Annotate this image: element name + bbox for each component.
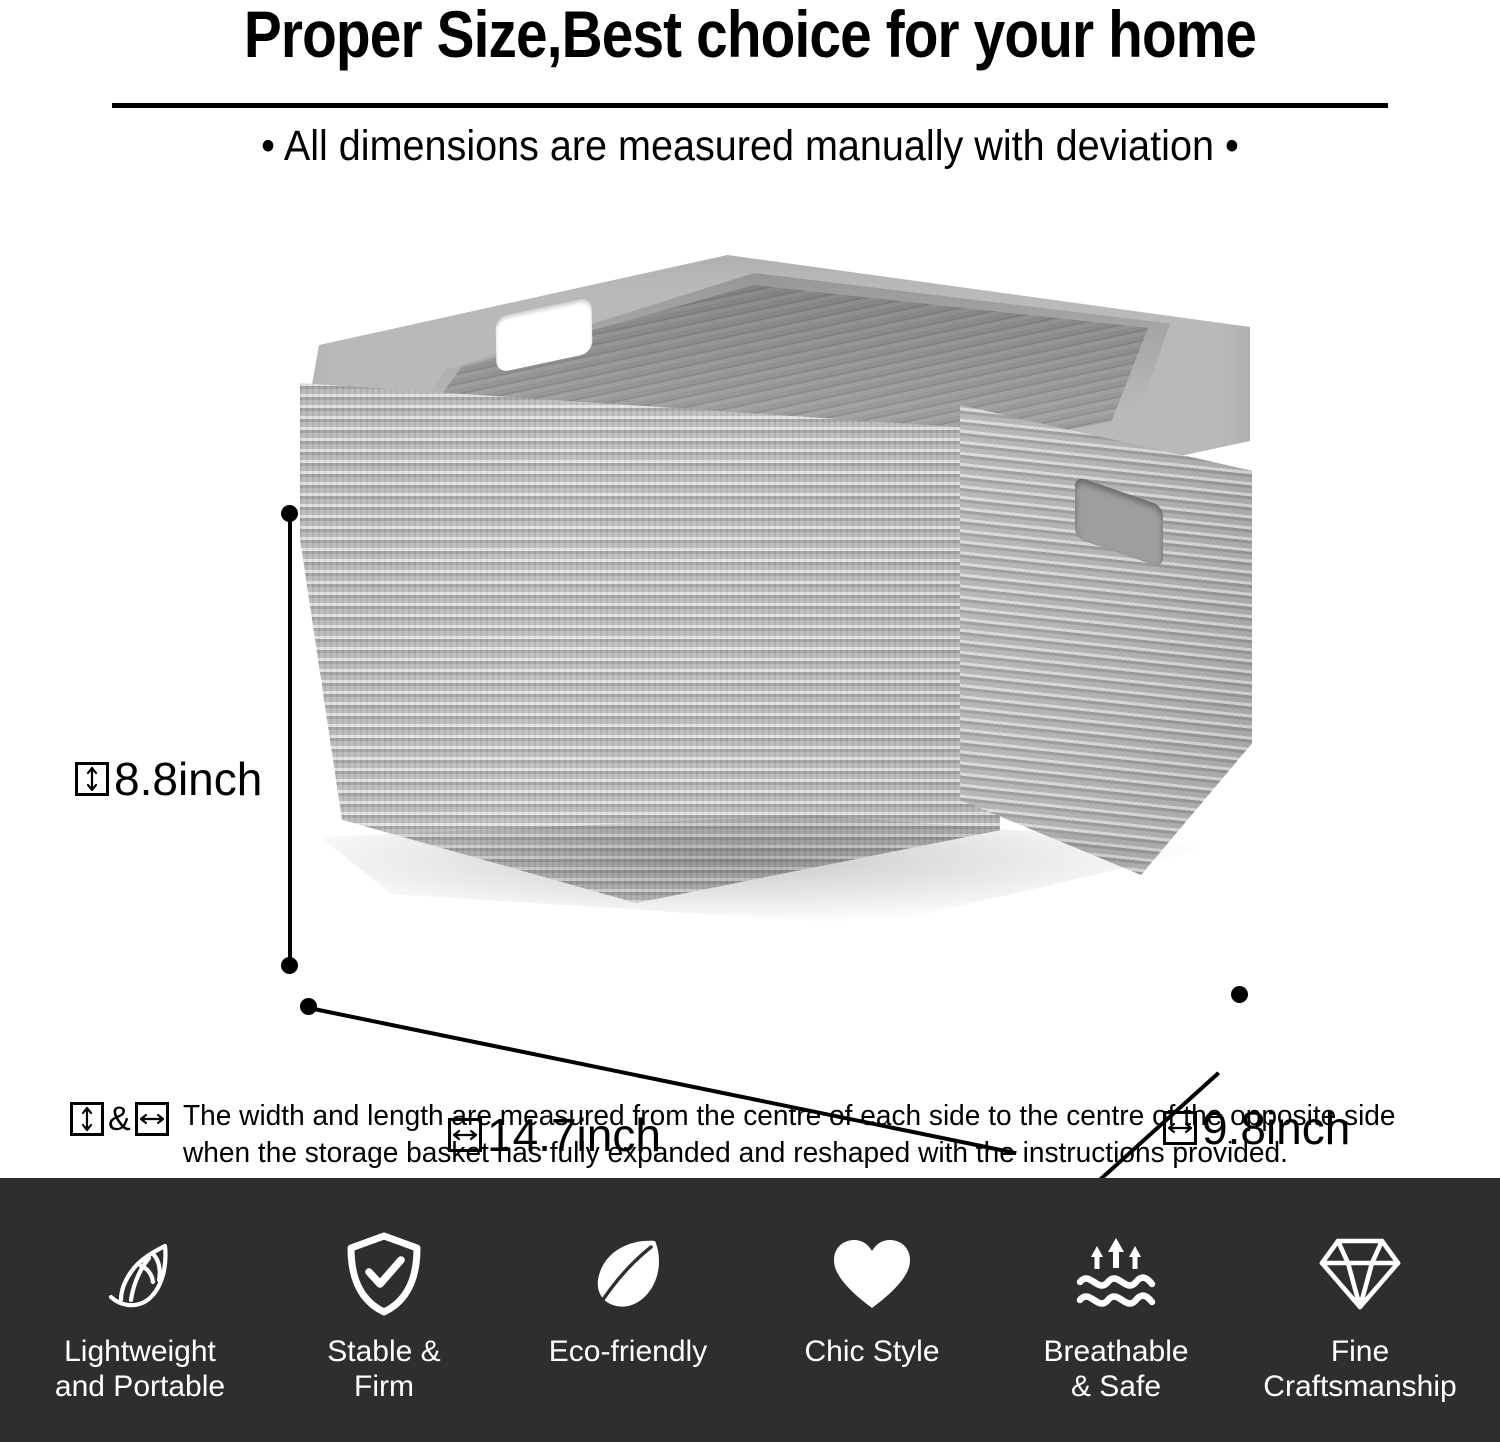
height-dimension-label: 8.8inch — [75, 752, 262, 806]
feature-label: Chic Style — [804, 1334, 939, 1369]
shield-check-icon — [340, 1230, 428, 1318]
airflow-waves-icon — [1072, 1230, 1160, 1318]
header: Proper Size,Best choice for your home • … — [0, 0, 1500, 180]
feature-chic-style: Chic Style — [750, 1230, 994, 1369]
feature-stable-and-firm: Stable & Firm — [262, 1230, 506, 1404]
storage-basket-image — [300, 255, 1250, 955]
feature-fine-craftsmanship: Fine Craftsmanship — [1238, 1230, 1482, 1404]
basket-side-panel — [960, 405, 1252, 875]
height-dimension-value: 8.8inch — [114, 752, 262, 806]
horizontal-double-arrow-icon — [135, 1102, 169, 1136]
width-dimension-endpoint-left — [300, 998, 317, 1015]
feature-breathable-and-safe: Breathable & Safe — [994, 1230, 1238, 1404]
heart-icon — [828, 1230, 916, 1318]
page-title: Proper Size,Best choice for your home — [105, 0, 1395, 72]
height-dimension-line — [288, 518, 292, 966]
leaf-icon — [584, 1230, 672, 1318]
measurement-footnote: & The width and length are measured from… — [70, 1098, 1430, 1172]
depth-dimension-endpoint-far — [1231, 986, 1248, 1003]
feather-icon — [96, 1230, 184, 1318]
feature-label: Stable & Firm — [327, 1334, 440, 1404]
basket-front-panel — [300, 383, 1000, 903]
feature-lightweight-and-portable: Lightweight and Portable — [18, 1230, 262, 1404]
feature-bar: Lightweight and Portable Stable & Firm E… — [0, 1178, 1500, 1442]
feature-eco-friendly: Eco-friendly — [506, 1230, 750, 1369]
header-divider — [112, 103, 1388, 108]
feature-label: Eco-friendly — [549, 1334, 707, 1369]
header-subtitle: • All dimensions are measured manually w… — [60, 122, 1440, 171]
vertical-double-arrow-icon — [70, 1102, 104, 1136]
footnote-icon-group: & — [70, 1098, 169, 1136]
feature-label: Lightweight and Portable — [55, 1334, 225, 1404]
diamond-icon — [1316, 1230, 1404, 1318]
feature-label: Fine Craftsmanship — [1263, 1334, 1456, 1404]
vertical-double-arrow-icon — [75, 762, 109, 796]
height-dimension-endpoint-top — [281, 505, 298, 522]
product-stage: 8.8inch 14.7inch 9.8inch — [0, 180, 1500, 1070]
feature-label: Breathable & Safe — [1043, 1334, 1188, 1404]
footnote-ampersand: & — [108, 1102, 131, 1136]
footnote-text: The width and length are measured from t… — [183, 1098, 1412, 1172]
height-dimension-endpoint-bottom — [281, 957, 298, 974]
